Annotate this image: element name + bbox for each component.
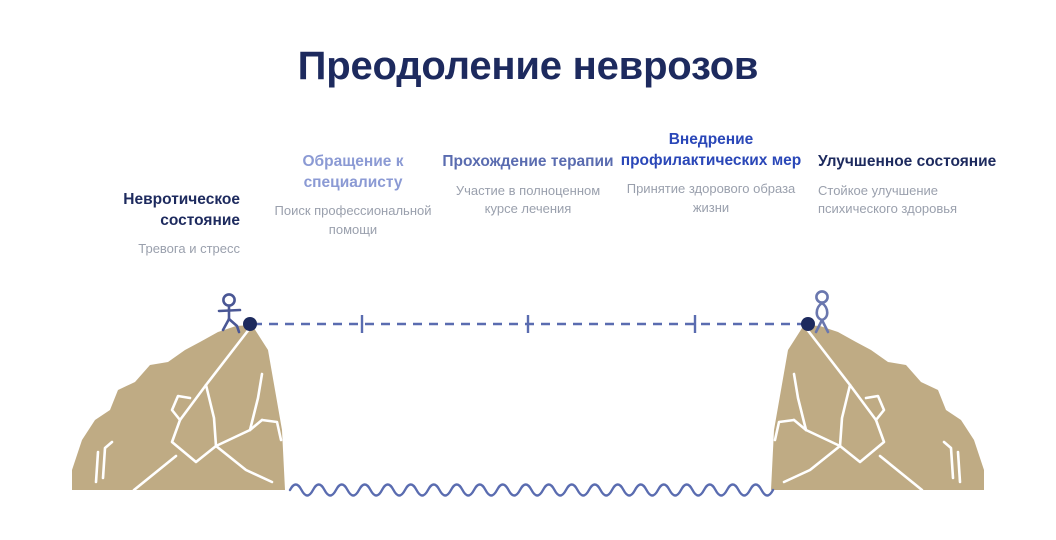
step-3-description: Участие в полноценном курсе лечения [440,182,616,219]
page-title: Преодоление неврозов [0,44,1056,88]
water-waves-icon [290,485,773,496]
infographic-root: Преодоление неврозов Невротическое состо… [0,0,1056,540]
mountain-left-icon [72,325,285,490]
rope-anchor-right [801,317,815,331]
step-4-heading: Внедрение профилактических мер [616,130,806,171]
step-item-1: Невротическое состояние Тревога и стресс [58,190,240,259]
stick-figure-standing-icon [816,291,828,332]
step-1-description: Тревога и стресс [58,240,240,258]
dashed-rope-path [243,315,815,333]
step-1-heading: Невротическое состояние [58,190,240,231]
step-item-2: Обращение к специалисту Поиск профессион… [262,152,444,239]
step-4-description: Принятие здорового образа жизни [616,180,806,217]
step-5-description: Стойкое улучшение психического здоровья [818,182,998,219]
step-item-5: Улучшенное состояние Стойкое улучшение п… [818,152,998,219]
step-5-heading: Улучшенное состояние [818,152,998,173]
step-item-3: Прохождение терапии Участие в полноценно… [440,152,616,219]
mountain-right-icon [771,325,984,490]
illustration-scene [0,270,1056,540]
rope-anchor-left [243,317,257,331]
step-item-4: Внедрение профилактических мер Принятие … [616,130,806,217]
step-2-heading: Обращение к специалисту [262,152,444,193]
step-3-heading: Прохождение терапии [440,152,616,173]
stick-figure-walking-icon [219,294,240,332]
step-2-description: Поиск профессиональной помощи [262,202,444,239]
